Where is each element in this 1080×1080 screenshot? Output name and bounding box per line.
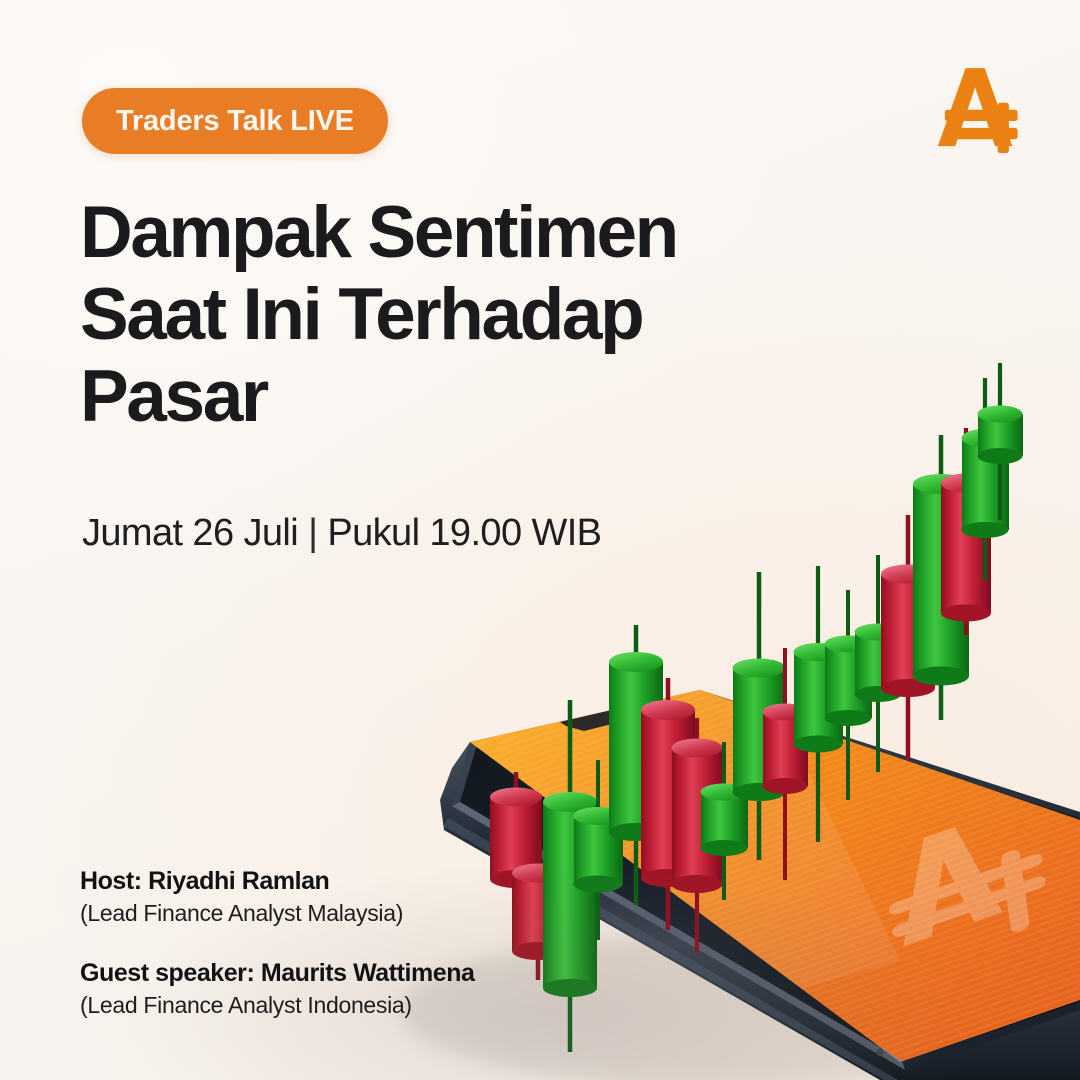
live-badge[interactable]: Traders Talk LIVE [82,88,388,154]
datetime-separator: | [298,512,327,555]
octa-a-logo-icon [924,56,1028,160]
event-datetime: Jumat 26 Juli|Pukul 19.00 WIB [82,512,601,555]
headline-line-1: Dampak Sentimen [80,192,820,274]
event-time: Pukul 19.00 WIB [327,512,601,554]
event-date: Jumat 26 Juli [82,512,298,554]
speaker-host: Host: Riyadhi Ramlan (Lead Finance Analy… [80,866,475,928]
page-title: Dampak Sentimen Saat Ini Terhadap Pasar [80,192,820,437]
candlestick-chart [490,363,1023,1052]
smartphone-mockup [430,660,1080,1080]
poster-canvas: Traders Talk LIVE Dampak Sentimen Saat I… [0,0,1080,1080]
speaker-guest: Guest speaker: Maurits Wattimena (Lead F… [80,958,475,1020]
live-badge-label: Traders Talk LIVE [116,105,354,138]
headline-line-3: Pasar [80,356,820,438]
headline-line-2: Saat Ini Terhadap [80,274,820,356]
speaker-list: Host: Riyadhi Ramlan (Lead Finance Analy… [80,866,475,1021]
speaker-guest-role: (Lead Finance Analyst Indonesia) [80,990,475,1021]
speaker-host-name: Host: Riyadhi Ramlan [80,866,475,898]
speaker-guest-name: Guest speaker: Maurits Wattimena [80,958,475,990]
speaker-host-role: (Lead Finance Analyst Malaysia) [80,898,475,929]
